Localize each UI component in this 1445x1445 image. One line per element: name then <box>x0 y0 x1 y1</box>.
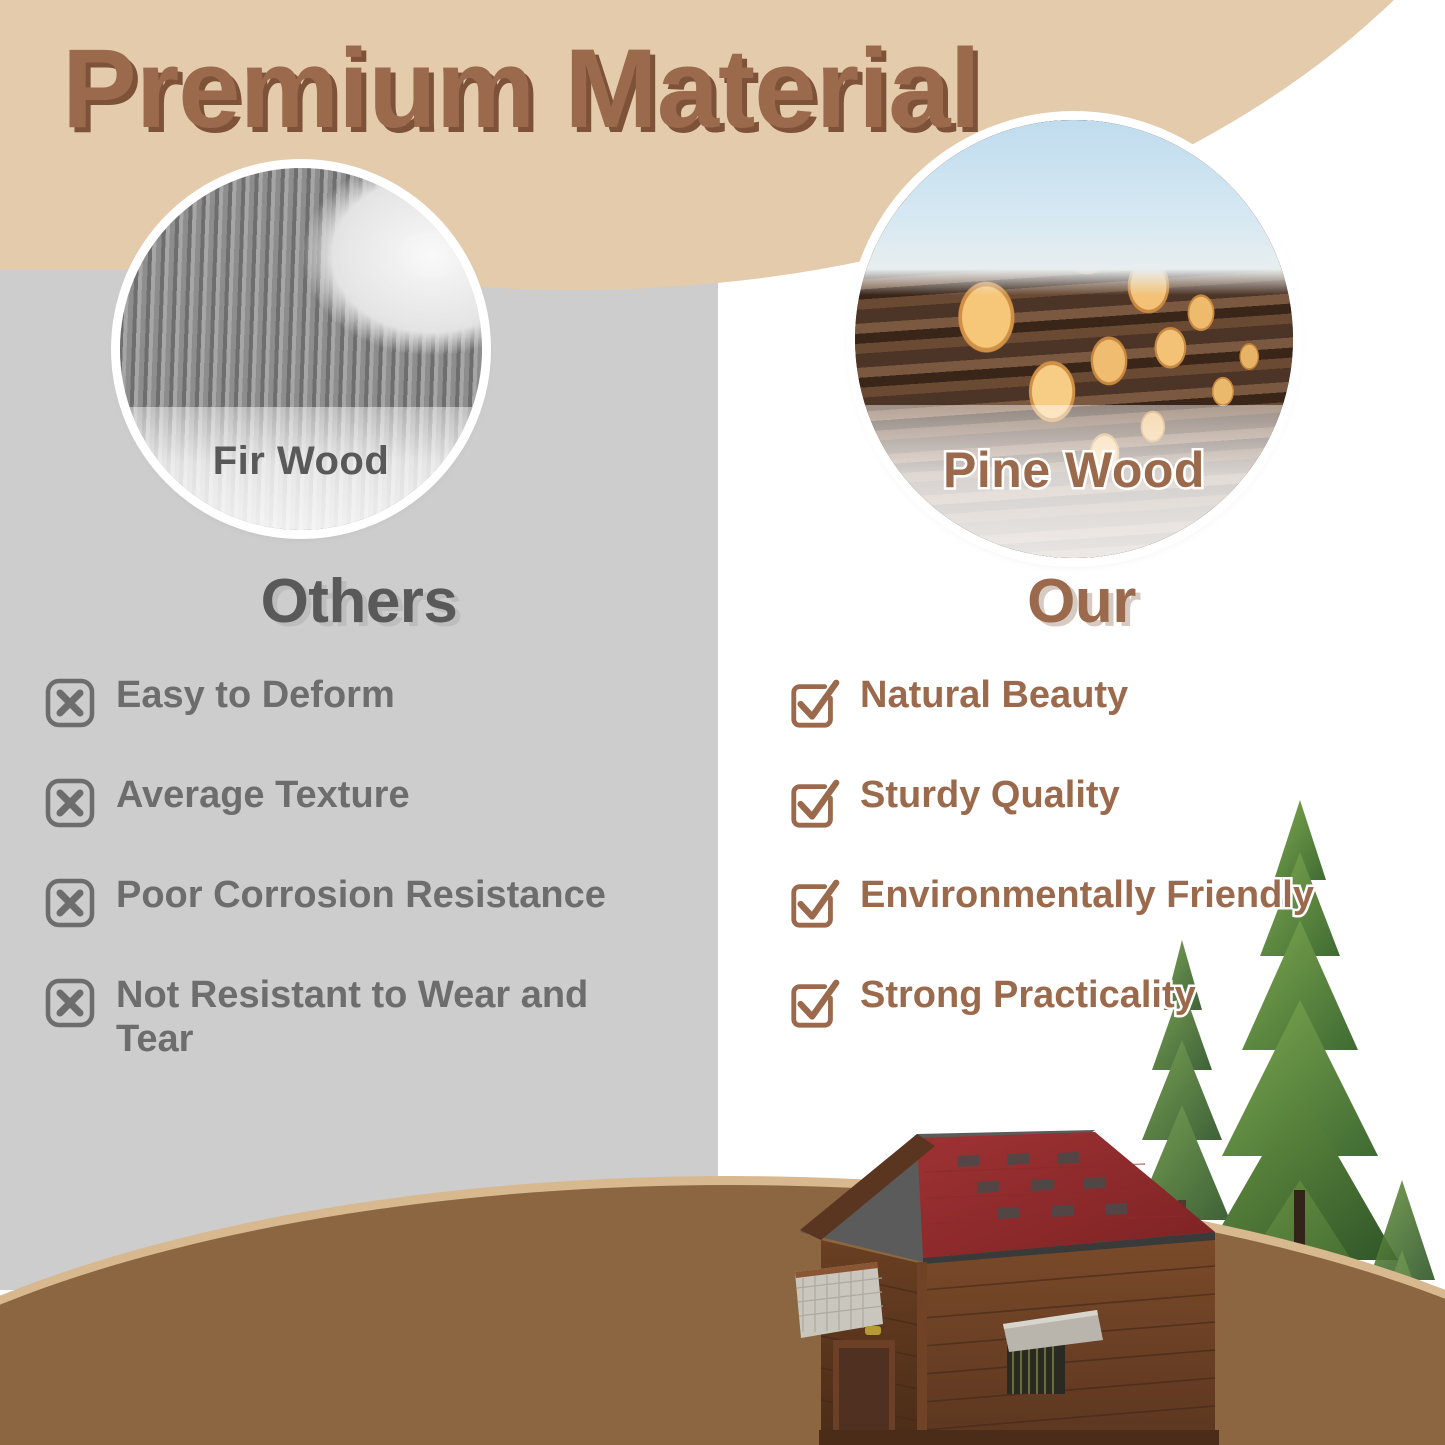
list-item-label: Easy to Deform <box>116 673 395 717</box>
others-column: Others Easy to Deform Av <box>0 566 718 1106</box>
list-item-label: Sturdy Quality <box>860 773 1120 817</box>
list-item: Average Texture <box>0 773 718 829</box>
wooden-dog-house-photo <box>745 1112 1265 1445</box>
check-box-icon <box>788 777 840 829</box>
our-column: Our Natural Beauty Sturd <box>718 566 1445 1073</box>
our-list: Natural Beauty Sturdy Quality <box>718 673 1445 1029</box>
list-item-label: Poor Corrosion Resistance <box>116 873 606 917</box>
list-item: Environmentally Friendly <box>718 873 1445 929</box>
x-box-icon <box>44 977 96 1029</box>
list-item-label: Strong Practicality <box>860 973 1196 1017</box>
list-item-label: Natural Beauty <box>860 673 1128 717</box>
list-item: Strong Practicality <box>718 973 1445 1029</box>
fir-wood-caption: Fir Wood <box>120 407 482 530</box>
x-box-icon <box>44 777 96 829</box>
check-box-icon <box>788 977 840 1029</box>
list-item-label: Average Texture <box>116 773 410 817</box>
our-heading: Our <box>718 566 1445 637</box>
check-box-icon <box>788 677 840 729</box>
x-box-icon <box>44 677 96 729</box>
pine-wood-caption: Pine Wood <box>855 405 1293 558</box>
check-box-icon <box>788 877 840 929</box>
pine-wood-circle: Pine Wood <box>855 120 1293 558</box>
list-item-label: Environmentally Friendly <box>860 873 1314 917</box>
list-item: Sturdy Quality <box>718 773 1445 829</box>
premium-material-poster: Premium Material Fir Wood Pine Wood Othe… <box>0 0 1445 1445</box>
list-item: Not Resistant to Wear and Tear <box>0 973 718 1062</box>
fir-wood-circle: Fir Wood <box>120 168 482 530</box>
x-box-icon <box>44 877 96 929</box>
list-item-label: Not Resistant to Wear and Tear <box>116 973 636 1062</box>
page-title: Premium Material <box>62 24 980 153</box>
list-item: Easy to Deform <box>0 673 718 729</box>
list-item: Natural Beauty <box>718 673 1445 729</box>
list-item: Poor Corrosion Resistance <box>0 873 718 929</box>
others-heading: Others <box>0 566 718 637</box>
others-list: Easy to Deform Average Texture <box>0 673 718 1062</box>
